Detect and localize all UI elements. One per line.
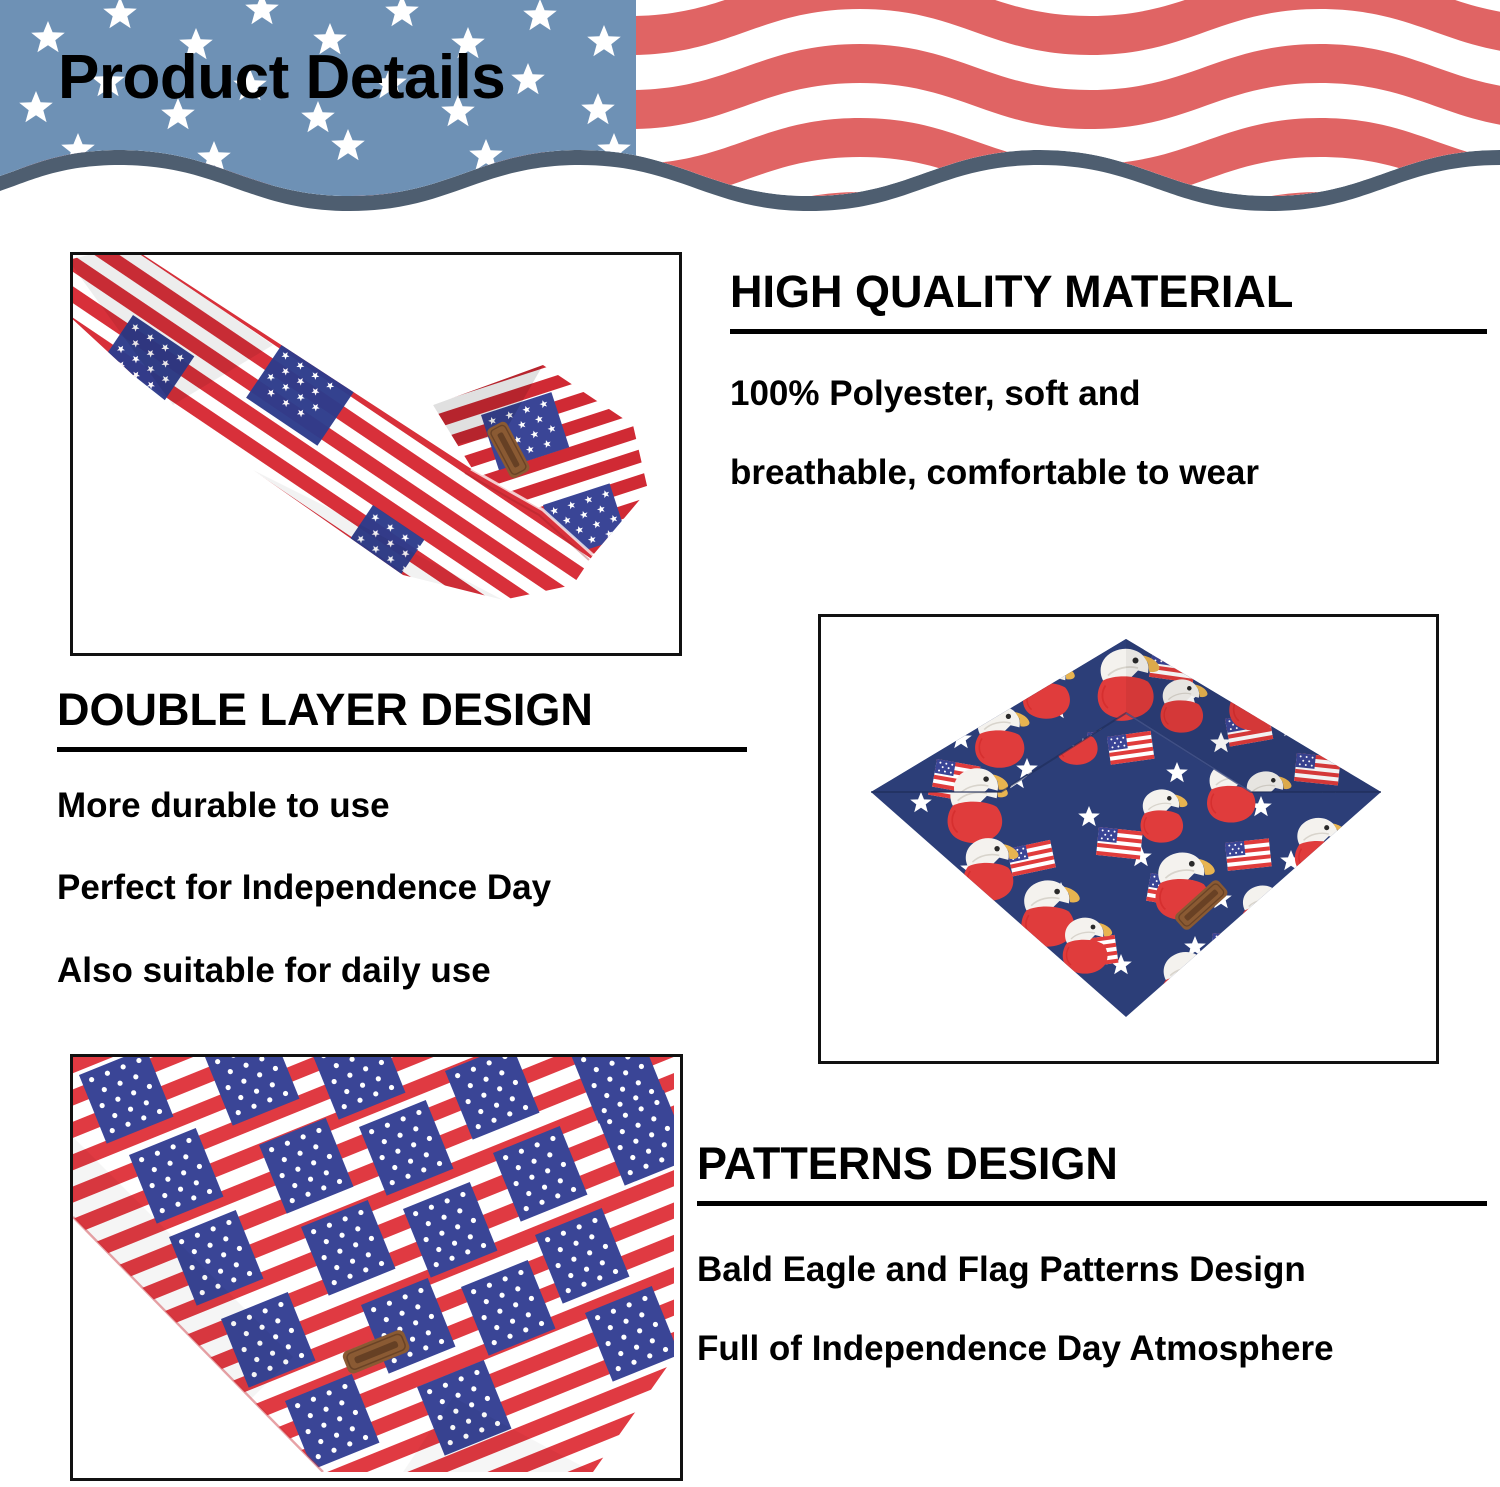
section-line: Perfect for Independence Day (57, 868, 747, 907)
section-heading: PATTERNS DESIGN (697, 1140, 1487, 1187)
product-image-flat-bandana (70, 1054, 683, 1481)
product-image-eagle-bandana (818, 614, 1439, 1064)
section-line: Bald Eagle and Flag Patterns Design (697, 1250, 1487, 1289)
section-divider (57, 747, 747, 752)
section-heading: HIGH QUALITY MATERIAL (730, 268, 1487, 315)
section-line: Also suitable for daily use (57, 951, 747, 990)
section-line: 100% Polyester, soft and (730, 374, 1487, 413)
product-details-page: Product Details (0, 0, 1500, 1487)
section-body: 100% Polyester, soft and breathable, com… (730, 374, 1487, 492)
folded-bandana-graphic (73, 255, 673, 647)
section-double-layer-design: DOUBLE LAYER DESIGN More durable to use … (57, 686, 747, 1033)
section-line: Full of Independence Day Atmosphere (697, 1329, 1487, 1368)
section-body: Bald Eagle and Flag Patterns Design Full… (697, 1250, 1487, 1368)
section-line: breathable, comfortable to wear (730, 453, 1487, 492)
section-high-quality-material: HIGH QUALITY MATERIAL 100% Polyester, so… (730, 268, 1487, 533)
section-divider (697, 1201, 1487, 1206)
header-flag-banner: Product Details (0, 0, 1500, 215)
product-image-folded-bandana (70, 252, 682, 656)
section-body: More durable to use Perfect for Independ… (57, 786, 747, 990)
section-divider (730, 329, 1487, 334)
eagle-bandana-graphic (821, 617, 1430, 1055)
page-title: Product Details (58, 47, 505, 109)
flat-bandana-graphic (73, 1057, 674, 1472)
section-line: More durable to use (57, 786, 747, 825)
section-patterns-design: PATTERNS DESIGN Bald Eagle and Flag Patt… (697, 1140, 1487, 1409)
section-heading: DOUBLE LAYER DESIGN (57, 686, 747, 733)
